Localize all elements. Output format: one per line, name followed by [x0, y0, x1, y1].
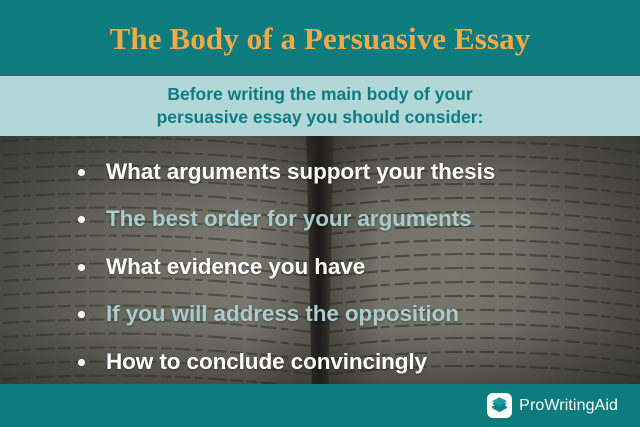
brand-name: ProWritingAid: [519, 398, 618, 414]
bullet-dot-icon: [78, 169, 85, 176]
header-band: The Body of a Persuasive Essay: [0, 0, 640, 76]
bullet-dot-icon: [78, 264, 85, 271]
list-item: If you will address the opposition: [0, 293, 640, 337]
stacked-pages-icon: [487, 393, 512, 418]
list-item-label: How to conclude convincingly: [106, 350, 427, 375]
list-item-label: What arguments support your thesis: [106, 160, 495, 185]
list-item-label: What evidence you have: [106, 255, 365, 280]
bullet-list: What arguments support your thesis The b…: [0, 136, 640, 384]
slide-canvas: The Body of a Persuasive Essay Before wr…: [0, 0, 640, 427]
list-item: What arguments support your thesis: [0, 150, 640, 194]
list-item: What evidence you have: [0, 245, 640, 289]
page-title: The Body of a Persuasive Essay: [110, 23, 531, 54]
bullet-dot-icon: [78, 359, 85, 366]
bullet-dot-icon: [78, 311, 85, 318]
footer-band: ProWritingAid: [0, 384, 640, 427]
list-item-label: The best order for your arguments: [106, 207, 472, 232]
bullet-dot-icon: [78, 216, 85, 223]
brand-logo[interactable]: ProWritingAid: [487, 384, 618, 427]
list-item: The best order for your arguments: [0, 198, 640, 242]
subtitle-line-2: persuasive essay you should consider:: [157, 106, 484, 129]
list-item-label: If you will address the opposition: [106, 302, 459, 327]
subtitle-band: Before writing the main body of your per…: [0, 76, 640, 136]
list-item: How to conclude convincingly: [0, 340, 640, 384]
subtitle-line-1: Before writing the main body of your: [167, 83, 472, 106]
